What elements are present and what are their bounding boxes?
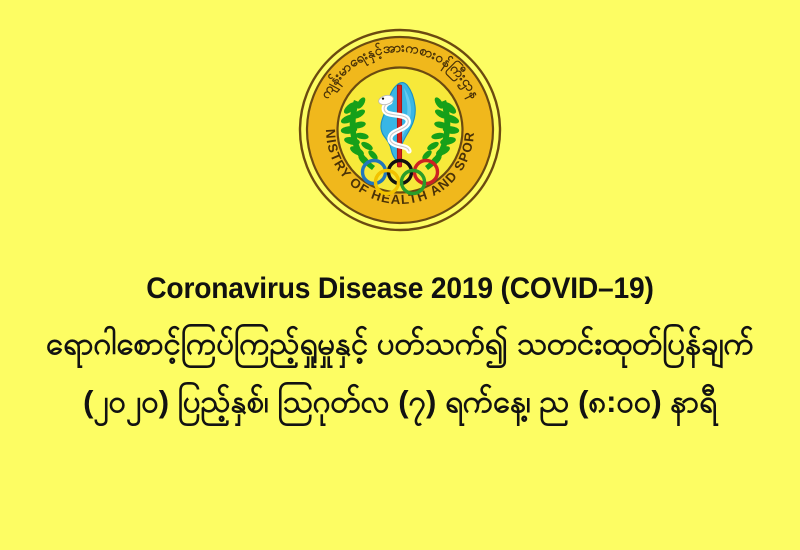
ministry-seal-icon: ကျန်းမာရေးနှင့်အားကစားဝန်ကြီးဌာန MINISTR… — [298, 28, 502, 232]
announcement-subject-line-mm-text: ရောဂါစောင့်ကြပ်ကြည့်ရှုမှုနှင့် ပတ်သက်၍ … — [46, 316, 754, 372]
ministry-logo: ကျန်းမာရေးနှင့်အားကစားဝန်ကြီးဌာန MINISTR… — [298, 28, 502, 232]
announcement-datetime-line-mm-text: (၂၀၂၀) ပြည့်နှစ်၊ သြဂုတ်လ (၇) ရက်နေ့၊ ည … — [83, 374, 717, 430]
announcement-subject-line-mm: ရောဂါစောင့်ကြပ်ကြည့်ရှုမှုနှင့် ပတ်သက်၍ … — [0, 316, 800, 372]
announcement-text-block: Coronavirus Disease 2019 (COVID–19) ရောဂ… — [0, 268, 800, 430]
press-release-banner: ကျန်းမာရေးနှင့်အားကစားဝန်ကြီးဌာန MINISTR… — [0, 0, 800, 550]
page-title-english: Coronavirus Disease 2019 (COVID–19) — [24, 268, 776, 310]
announcement-datetime-line-mm: (၂၀၂၀) ပြည့်နှစ်၊ သြဂုတ်လ (၇) ရက်နေ့၊ ည … — [0, 374, 800, 430]
